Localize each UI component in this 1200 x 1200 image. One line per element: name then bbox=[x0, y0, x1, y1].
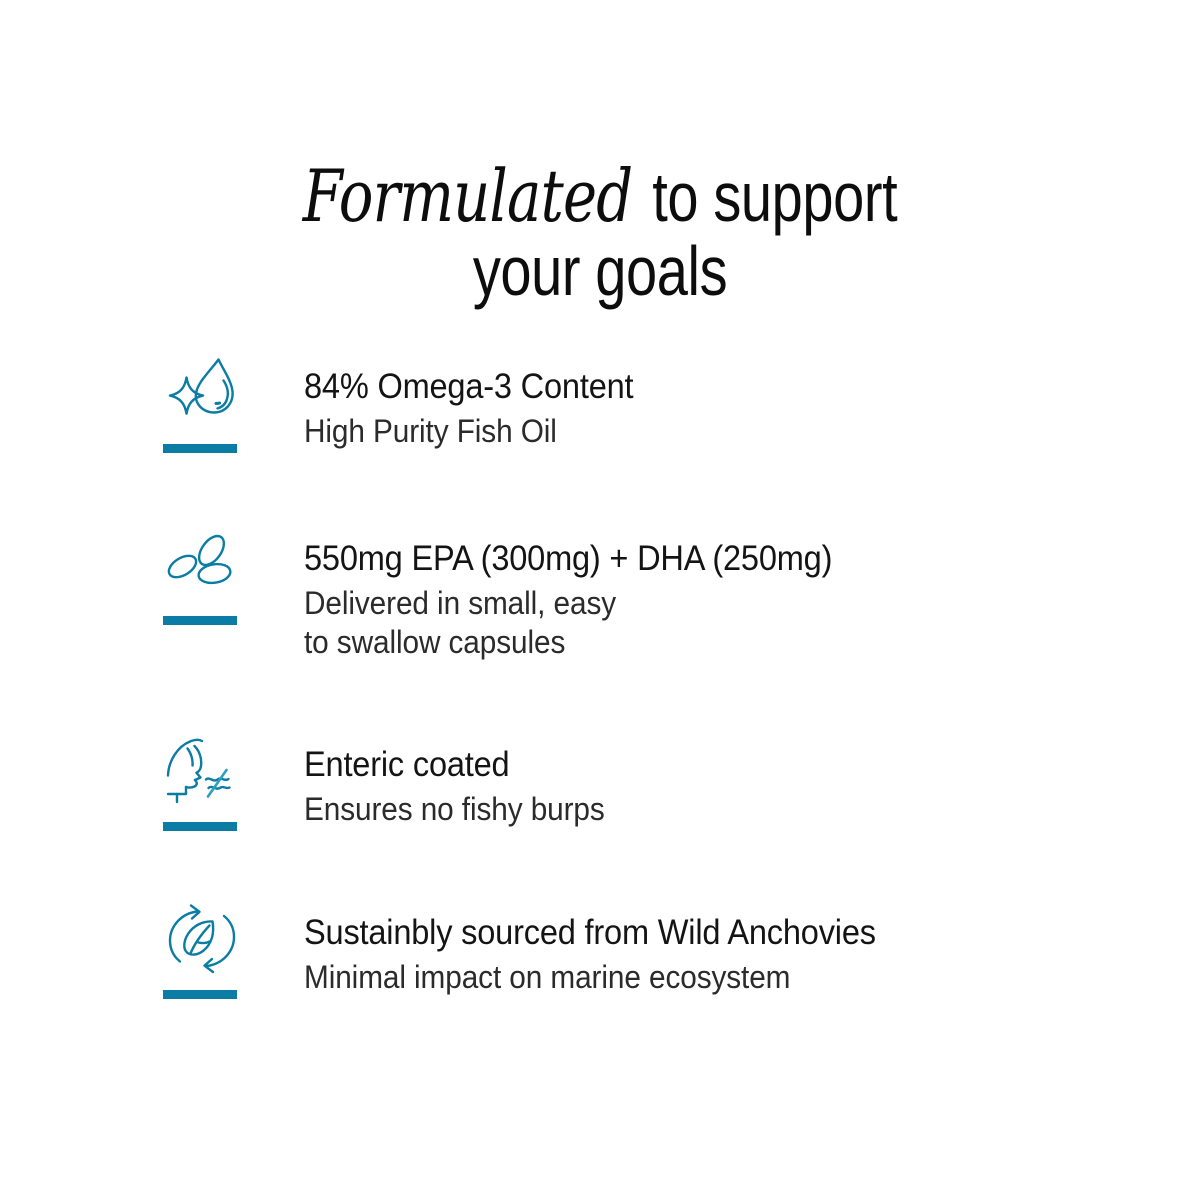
feature-accent-bar bbox=[163, 444, 237, 453]
feature-title: 550mg EPA (300mg) + DHA (250mg) bbox=[304, 538, 1137, 579]
page-title: Formulated to support your goals bbox=[120, 159, 1080, 308]
feature-row: Sustainbly sourced from Wild Anchovies M… bbox=[0, 898, 1200, 1048]
feature-subtitle: Delivered in small, easy to swallow caps… bbox=[304, 584, 1137, 662]
feature-text-block: Enteric coated Ensures no fishy burps bbox=[304, 730, 1200, 829]
feature-row: 550mg EPA (300mg) + DHA (250mg) Delivere… bbox=[0, 524, 1200, 730]
feature-title: Enteric coated bbox=[304, 744, 1137, 785]
feature-text-block: 84% Omega-3 Content High Purity Fish Oil bbox=[304, 352, 1200, 451]
feature-row: 84% Omega-3 Content High Purity Fish Oil bbox=[0, 352, 1200, 524]
feature-icon-block bbox=[162, 898, 304, 999]
feature-text-block: 550mg EPA (300mg) + DHA (250mg) Delivere… bbox=[304, 524, 1200, 662]
page-title-line-2: your goals bbox=[120, 234, 1080, 308]
no-fishy-burps-face-icon bbox=[162, 732, 242, 810]
feature-icon-block bbox=[162, 352, 304, 453]
capsules-icon bbox=[162, 526, 242, 604]
feature-text-block: Sustainbly sourced from Wild Anchovies M… bbox=[304, 898, 1200, 997]
feature-subtitle: High Purity Fish Oil bbox=[304, 412, 1137, 451]
feature-subtitle: Minimal impact on marine ecosystem bbox=[304, 958, 1137, 997]
page-title-line-1: Formulated to support bbox=[120, 159, 1080, 234]
feature-title: Sustainbly sourced from Wild Anchovies bbox=[304, 912, 1137, 953]
feature-icon-block bbox=[162, 730, 304, 831]
feature-accent-bar bbox=[163, 616, 237, 625]
recycle-leaf-icon bbox=[162, 900, 242, 978]
feature-accent-bar bbox=[163, 822, 237, 831]
page-title-line-1-rest: to support bbox=[637, 158, 897, 236]
feature-icon-block bbox=[162, 524, 304, 625]
feature-accent-bar bbox=[163, 990, 237, 999]
formulated-benefits-panel: Formulated to support your goals 84% Ome… bbox=[0, 0, 1200, 1200]
feature-row: Enteric coated Ensures no fishy burps bbox=[0, 730, 1200, 898]
droplet-sparkle-icon bbox=[162, 354, 242, 432]
page-title-accent-word: Formulated bbox=[303, 154, 637, 238]
feature-list: 84% Omega-3 Content High Purity Fish Oil… bbox=[0, 352, 1200, 1048]
feature-title: 84% Omega-3 Content bbox=[304, 366, 1137, 407]
feature-subtitle: Ensures no fishy burps bbox=[304, 790, 1137, 829]
